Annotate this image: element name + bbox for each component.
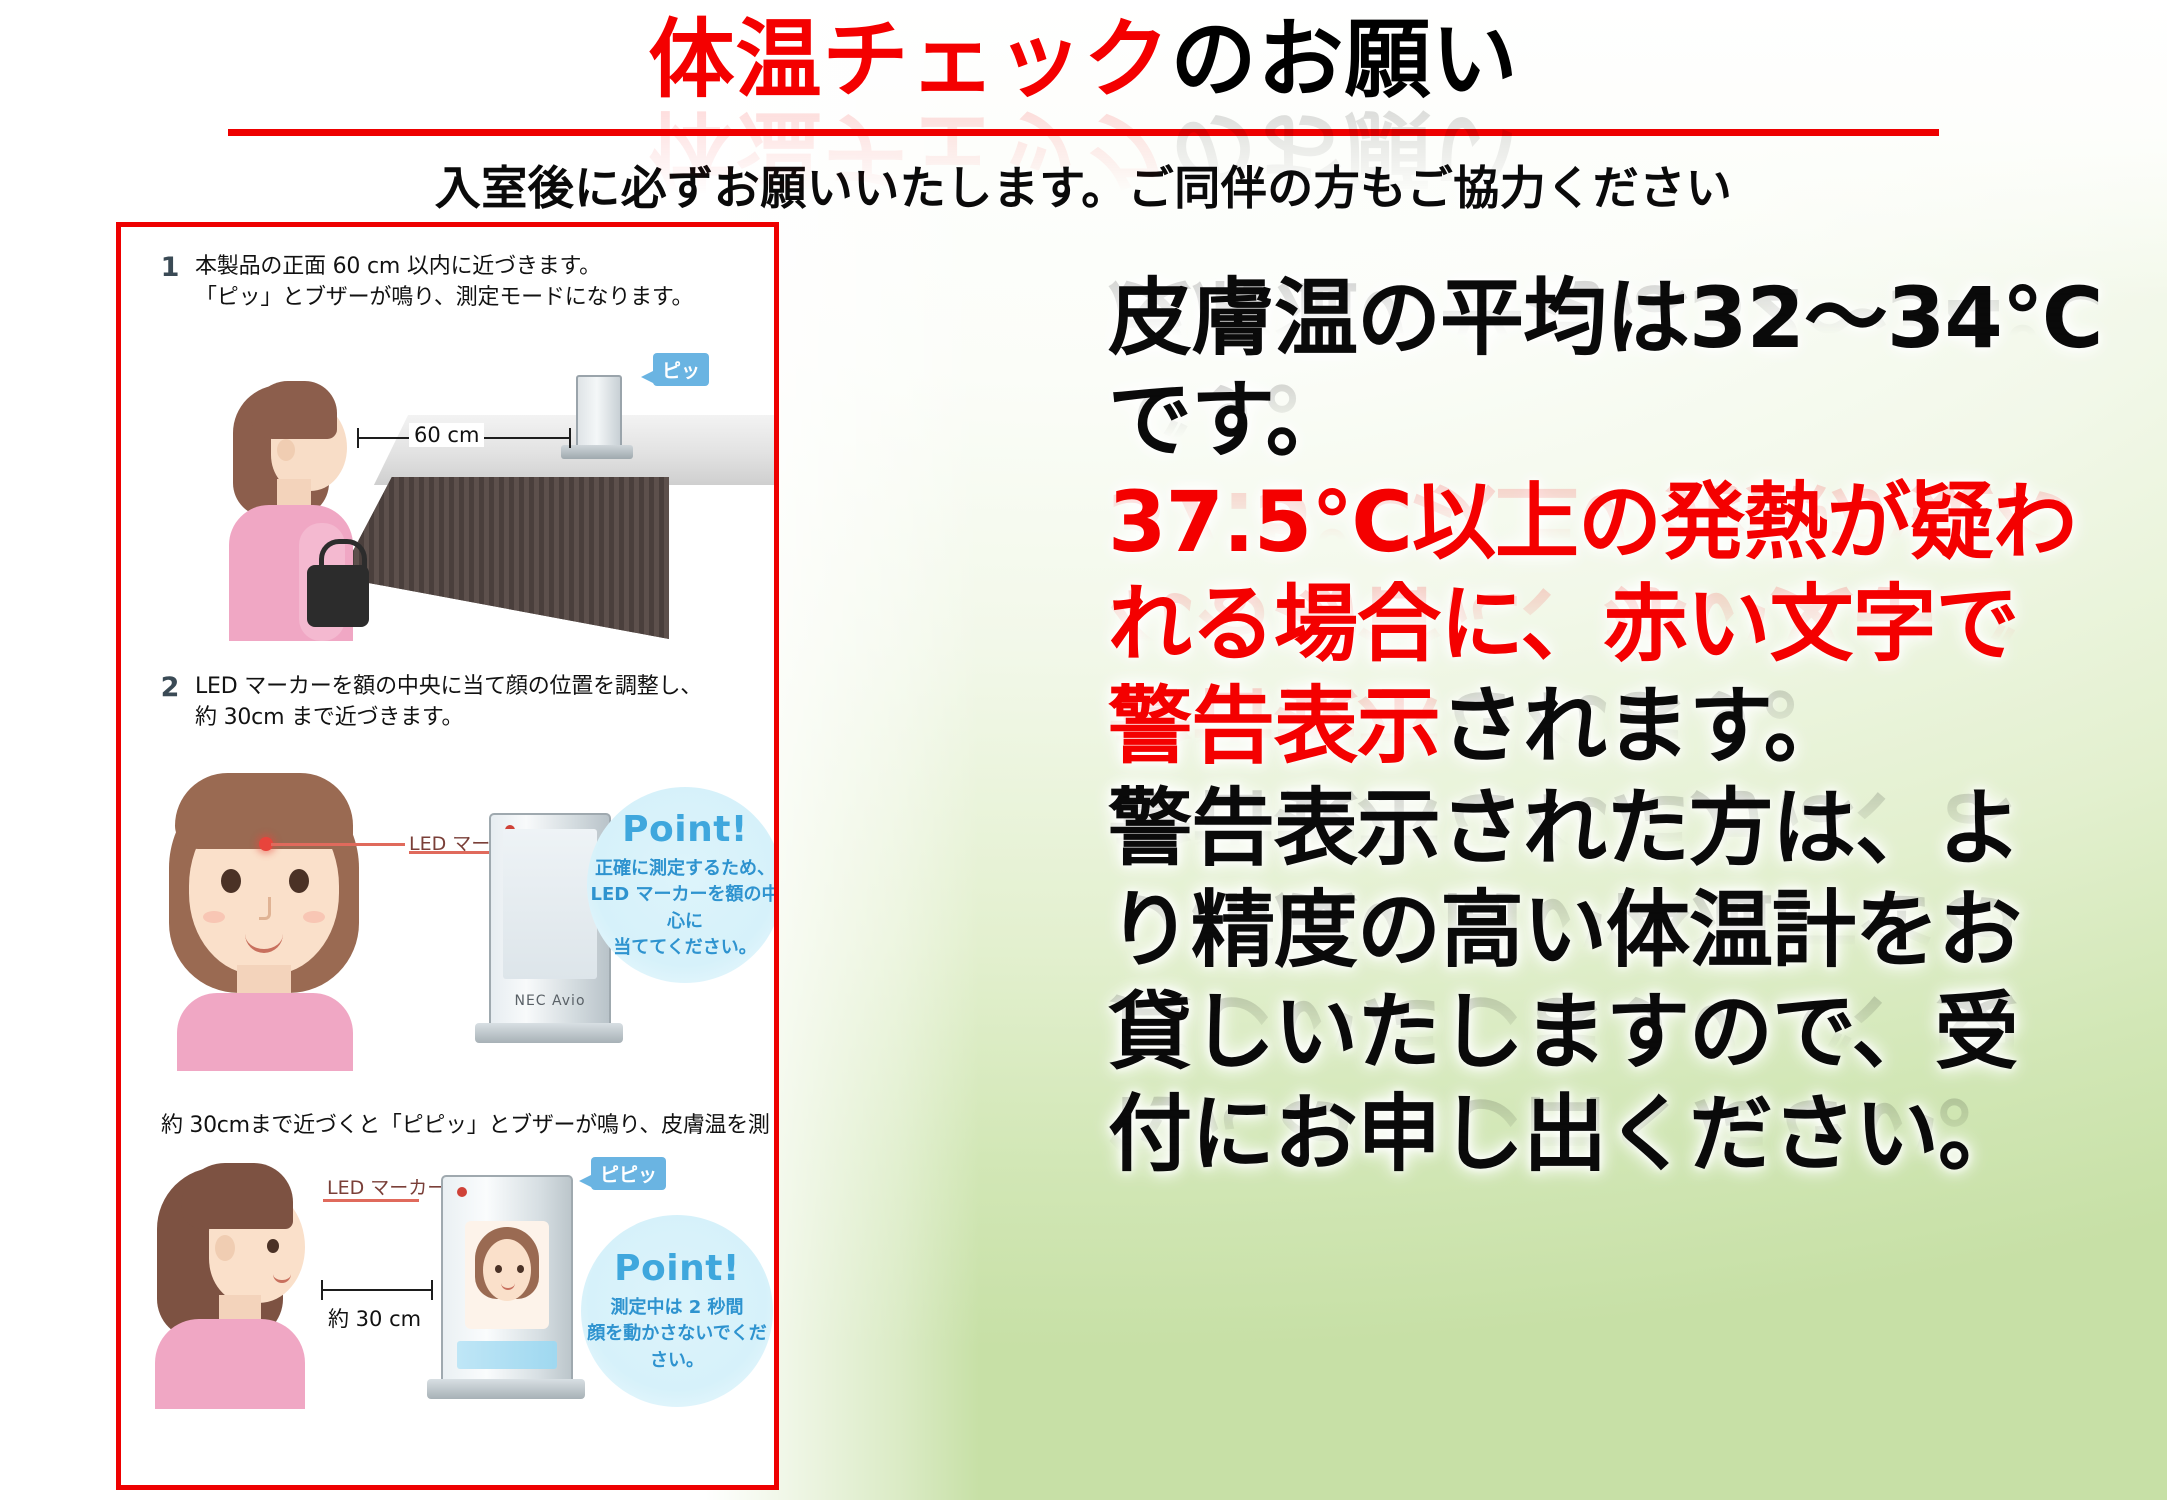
poster-header: 体温チェックのお願い 体温チェックのお願い	[0, 0, 2167, 108]
point-callout-2: Point! 測定中は 2 秒間 顔を動かさないでください。	[581, 1215, 773, 1407]
figure-1-approach-desk: 60 cm ピッ	[121, 327, 779, 657]
distance-measure-line-30cm	[321, 1289, 433, 1291]
page-subtitle: 入室後に必ずお願いいたします。ご同伴の方もご協力ください	[0, 152, 2167, 218]
figure-3-measurement-kiosk: LED マーカー ピピッ 約 30 cm	[141, 1147, 779, 1467]
instruction-sheet: 1 本製品の正面 60 cm 以内に近づきます。 「ピッ」とブザーが鳴り、測定モ…	[116, 222, 779, 1490]
distance-label-60cm: 60 cm	[409, 423, 484, 447]
person-3-eye	[267, 1239, 279, 1253]
step-2-row: 2 LED マーカーを額の中央に当て顔の位置を調整し、 約 30cm まで近づき…	[157, 671, 702, 733]
title-divider-rule	[228, 129, 1939, 136]
right-line-1: 皮膚温の平均は32～34℃ 皮膚温の平均は32～34℃	[1108, 276, 2148, 360]
point-callout-2-title: Point!	[614, 1248, 740, 1289]
right-line-4-text: れる場合に、赤い文字で	[1108, 575, 2018, 673]
right-line-5-black-part: されます。	[1440, 677, 1847, 775]
page-title-black-part: のお願い	[1171, 10, 1519, 110]
right-message-block: 皮膚温の平均は32～34℃ 皮膚温の平均は32～34℃ です。 です。 37.5…	[1108, 276, 2148, 1194]
middle-caption: 約 30cmまで近づくと「ピピッ」とブザーが鳴り、皮膚温を測ります。	[161, 1107, 779, 1139]
right-line-3: 37.5℃以上の発熱が疑わ 37.5℃以上の発熱が疑わ	[1108, 480, 2148, 564]
right-line-6: 警告表示された方は、よ 警告表示された方は、よ	[1108, 786, 2148, 870]
thermometer-base-figure-2	[475, 1023, 623, 1043]
right-line-4: れる場合に、赤い文字で れる場合に、赤い文字で	[1108, 582, 2148, 666]
step-2-text: LED マーカーを額の中央に当て顔の位置を調整し、 約 30cm まで近づきます…	[195, 671, 702, 733]
figure-2-led-marker-alignment: LED マーカー NEC Avio Point! 正確に測定するため、 LED …	[141, 751, 779, 1081]
desk-front-panel	[339, 477, 669, 639]
step-1-line-1: 本製品の正面 60 cm 以内に近づきます。	[195, 251, 693, 282]
person-3-body	[155, 1319, 305, 1409]
person-2-cheek-left	[203, 911, 225, 923]
beep-callout-figure-3: ピピッ	[591, 1157, 666, 1190]
step-2-line-2: 約 30cm まで近づきます。	[195, 702, 702, 733]
right-line-7-text: り精度の高い体温計をお	[1108, 881, 2021, 979]
preview-eye-left	[495, 1265, 502, 1273]
person-2-cheek-right	[303, 911, 325, 923]
right-line-2: です。 です。	[1108, 378, 2148, 462]
person-3-hair-front	[181, 1163, 293, 1229]
thermometer-device-figure-1	[576, 375, 622, 451]
right-line-8-text: 貸しいたしますので、受	[1108, 983, 2018, 1081]
step-2-number: 2	[157, 671, 183, 705]
right-line-8: 貸しいたしますので、受 貸しいたしますので、受	[1108, 990, 2148, 1074]
beep-callout-figure-1: ピッ	[653, 353, 709, 386]
led-marker-pointer-line-figure-2	[271, 843, 405, 846]
point-callout-1: Point! 正確に測定するため、 LED マーカーを額の中心に 当ててください…	[587, 787, 779, 983]
step-2-line-1: LED マーカーを額の中央に当て顔の位置を調整し、	[195, 671, 702, 702]
right-line-1-text: 皮膚温の平均は32～34℃	[1108, 269, 2103, 367]
point-callout-2-body: 測定中は 2 秒間 顔を動かさないでください。	[581, 1295, 773, 1373]
page-title: 体温チェックのお願い	[0, 0, 2167, 108]
right-line-3-text: 37.5℃以上の発熱が疑わ	[1108, 473, 2076, 571]
person-2-eye-left	[221, 869, 241, 893]
right-line-9: 付にお申し出ください。 付にお申し出ください。	[1108, 1092, 2148, 1176]
step-1-row: 1 本製品の正面 60 cm 以内に近づきます。 「ピッ」とブザーが鳴り、測定モ…	[157, 251, 693, 313]
point-callout-1-title: Point!	[622, 809, 748, 850]
person-2-nose	[259, 897, 271, 920]
right-line-9-text: 付にお申し出ください。	[1108, 1085, 2021, 1183]
right-line-6-text: 警告表示された方は、よ	[1108, 779, 2021, 877]
person-2-body	[177, 993, 353, 1071]
right-line-2-text: です。	[1108, 371, 1349, 469]
thermometer-stand-figure-1	[561, 445, 633, 459]
kiosk-screen-preview	[465, 1221, 549, 1329]
page-title-red-part: 体温チェック	[649, 10, 1171, 110]
person-2-eye-right	[289, 869, 309, 893]
right-line-7: り精度の高い体温計をお り精度の高い体温計をお	[1108, 888, 2148, 972]
point-callout-1-body: 正確に測定するため、 LED マーカーを額の中心に 当ててください。	[587, 856, 779, 960]
device-brand-label: NEC Avio	[491, 993, 609, 1009]
step-1-number: 1	[157, 251, 183, 285]
person-1-ear	[277, 439, 295, 461]
person-1-hair-front	[251, 381, 337, 439]
poster-canvas: 体温チェックのお願い 体温チェックのお願い 入室後に必ずお願いいたします。ご同伴…	[0, 0, 2167, 1500]
preview-eye-right	[517, 1265, 524, 1273]
led-marker-label-figure-3: LED マーカー	[327, 1173, 446, 1200]
kiosk-status-bar	[457, 1341, 557, 1369]
device-screen-figure-2	[503, 829, 597, 979]
kiosk-base-figure-3	[427, 1379, 585, 1399]
person-1-bag	[307, 565, 369, 627]
distance-label-30cm: 約 30 cm	[323, 1303, 426, 1333]
person-3-ear	[215, 1235, 235, 1261]
kiosk-sensor-led	[457, 1187, 467, 1197]
right-line-5: 警告表示されます。 警告表示されます。	[1108, 684, 2148, 768]
step-1-line-2: 「ピッ」とブザーが鳴り、測定モードになります。	[195, 282, 693, 313]
step-1-text: 本製品の正面 60 cm 以内に近づきます。 「ピッ」とブザーが鳴り、測定モード…	[195, 251, 693, 313]
right-line-5-red-part: 警告表示	[1108, 677, 1440, 775]
thermometer-kiosk-figure-3	[441, 1175, 573, 1385]
